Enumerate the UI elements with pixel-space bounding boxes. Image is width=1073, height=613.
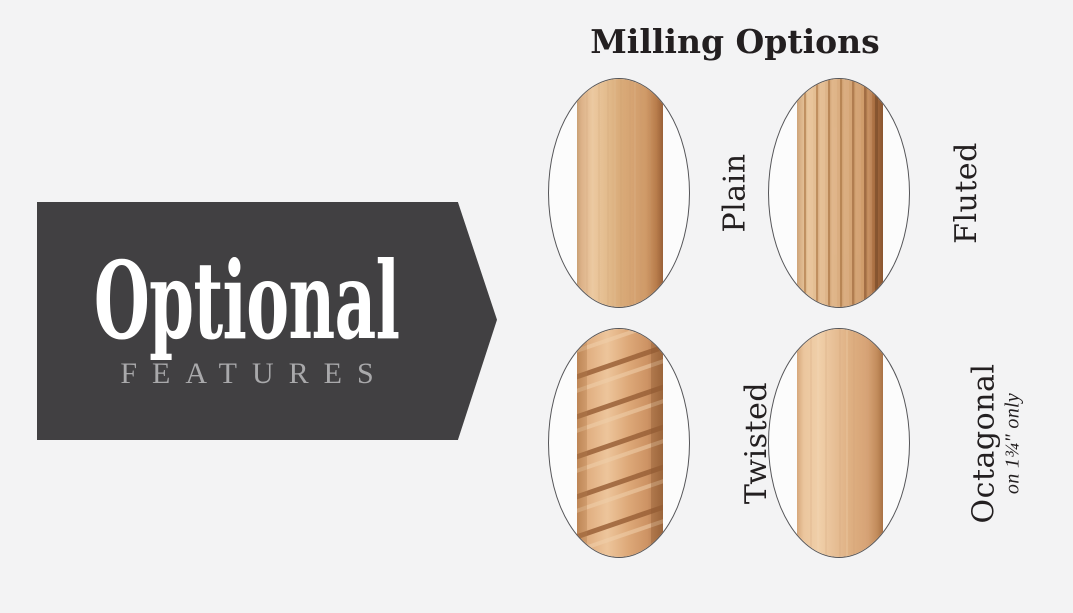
sample-label-note: on 1¾" only bbox=[1002, 392, 1022, 493]
sample-label-text: Plain bbox=[721, 153, 751, 232]
poster-canvas: Optional FEATURES Milling Options bbox=[0, 0, 1073, 613]
milling-sample-twisted: Twisted bbox=[548, 328, 758, 578]
fluted-dowel-graphic bbox=[797, 78, 883, 308]
milling-sample-octagonal: Octagonal on 1¾" only bbox=[768, 328, 978, 578]
milling-options-title: Milling Options bbox=[530, 22, 940, 61]
sample-label-text: Fluted bbox=[952, 142, 982, 244]
milling-sample-fluted: Fluted bbox=[768, 78, 978, 328]
badge-text-block: Optional FEATURES bbox=[37, 202, 457, 440]
sample-label-text: Octagonal bbox=[969, 363, 999, 523]
octagonal-dowel-graphic bbox=[797, 328, 883, 558]
optional-features-badge: Optional FEATURES bbox=[37, 202, 497, 440]
badge-title: Optional bbox=[94, 251, 400, 353]
milling-sample-plain: Plain bbox=[548, 78, 758, 328]
milling-sample-fluted-label: Fluted bbox=[916, 78, 1073, 308]
plain-dowel-graphic bbox=[577, 78, 663, 308]
oval-wood-swatch-icon bbox=[548, 78, 690, 308]
oval-wood-swatch-icon bbox=[768, 328, 910, 558]
milling-sample-octagonal-label: Octagonal on 1¾" only bbox=[916, 328, 1073, 558]
oval-wood-swatch-icon bbox=[768, 78, 910, 308]
twisted-dowel-graphic bbox=[577, 328, 663, 558]
oval-wood-swatch-icon bbox=[548, 328, 690, 558]
